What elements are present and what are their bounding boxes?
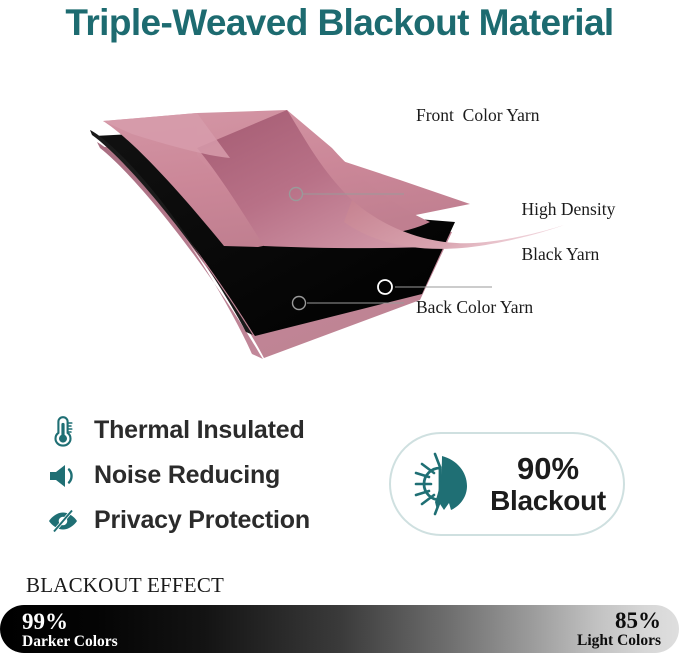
speaker-icon [46, 459, 80, 493]
bar-stat-light-colors: 85% Light Colors [577, 609, 661, 649]
label-front-color-yarn: Front Color Yarn [416, 104, 540, 126]
feature-item-privacy-protection: Privacy Protection [46, 498, 366, 543]
thermometer-icon [46, 414, 80, 448]
eye-slash-icon [46, 504, 80, 538]
bar-stat-light-value: 85% [577, 609, 661, 632]
feature-label-privacy-protection: Privacy Protection [94, 506, 310, 535]
page-title: Triple-Weaved Blackout Material [0, 2, 679, 44]
bar-stat-darker-colors: 99% Darker Colors [22, 610, 118, 650]
label-middle-line-2: Black Yarn [522, 244, 600, 264]
label-middle-line-1: High Density [522, 199, 616, 219]
label-back-color-yarn: Back Color Yarn [416, 296, 533, 318]
blackout-badge: 90% Blackout [389, 432, 625, 536]
feature-item-thermal-insulated: Thermal Insulated [46, 408, 366, 453]
badge-word: Blackout [481, 486, 615, 515]
badge-percent: 90% [481, 453, 615, 486]
badge-text: 90% Blackout [481, 453, 623, 515]
feature-list: Thermal Insulated Noise Reducing Privacy… [46, 408, 366, 543]
feature-item-noise-reducing: Noise Reducing [46, 453, 366, 498]
bar-stat-light-label: Light Colors [577, 633, 661, 649]
label-high-density-black-yarn: High Density Black Yarn [504, 176, 615, 288]
feature-label-thermal-insulated: Thermal Insulated [94, 416, 305, 445]
bar-stat-darker-value: 99% [22, 610, 118, 633]
feature-label-noise-reducing: Noise Reducing [94, 461, 280, 490]
blackout-effect-gradient-bar: 99% Darker Colors 85% Light Colors [0, 605, 679, 653]
fabric-layers-diagram: Front Color Yarn High Density Black Yarn… [0, 82, 679, 362]
bar-stat-darker-label: Darker Colors [22, 634, 118, 650]
sun-blocked-by-curtain-icon [407, 449, 481, 519]
blackout-effect-heading: BLACKOUT EFFECT [26, 573, 224, 598]
